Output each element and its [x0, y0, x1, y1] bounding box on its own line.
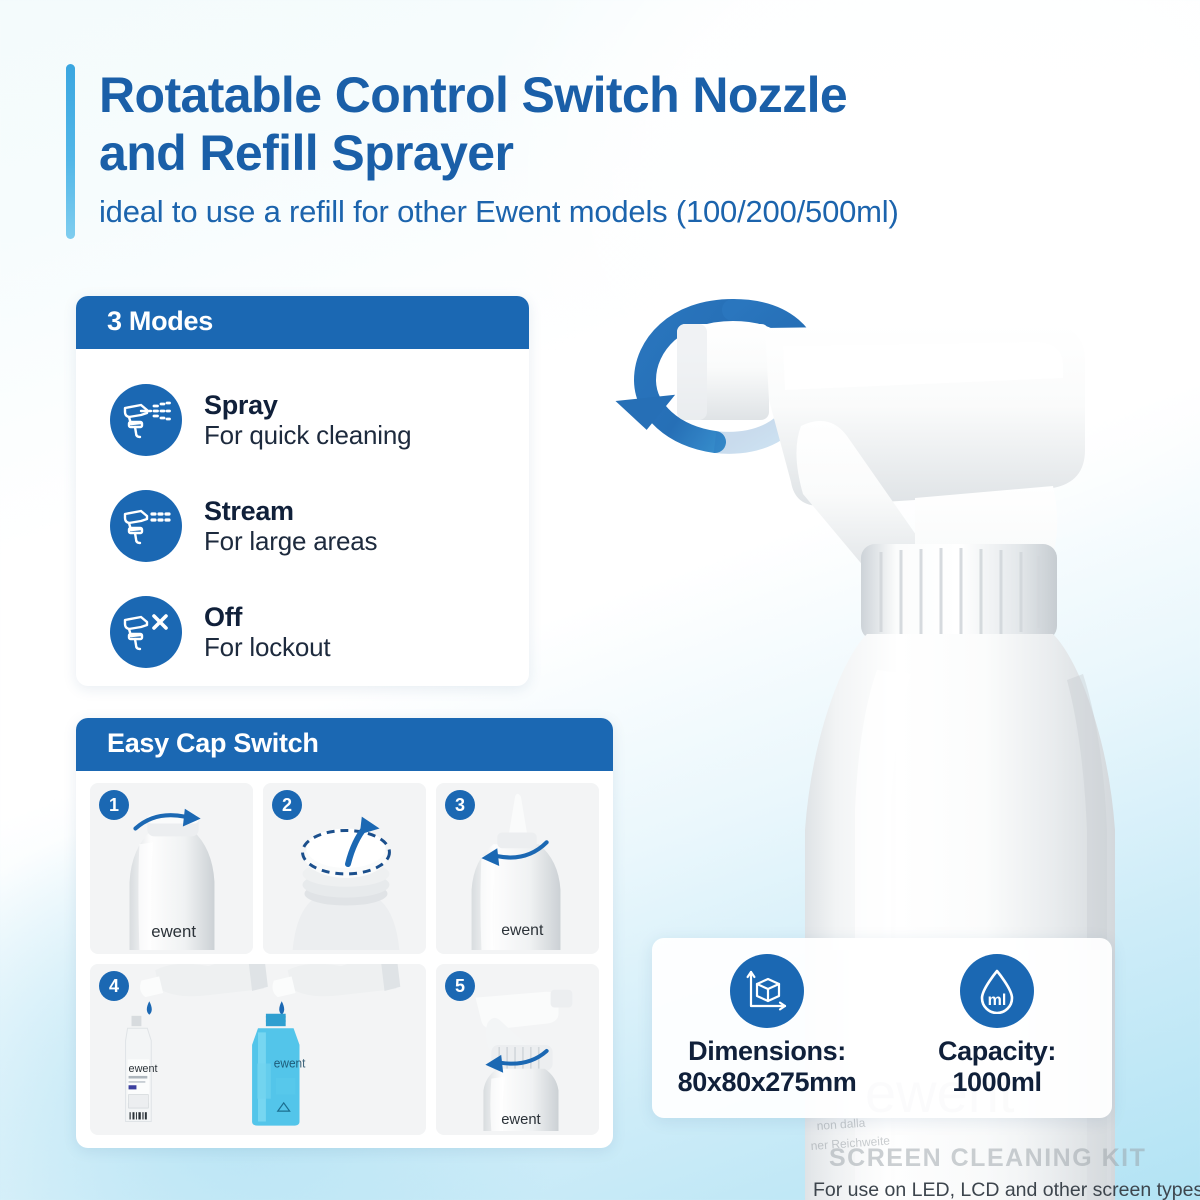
cap-step-1: 1 ewent [90, 783, 253, 954]
step-number: 4 [99, 971, 129, 1001]
cap-step-2: 2 [263, 783, 426, 954]
mode-desc: For lockout [204, 633, 330, 662]
bottle-label-description: For use on LED, LCD and other screen typ… [813, 1179, 1200, 1200]
step-number: 2 [272, 790, 302, 820]
mode-desc: For large areas [204, 527, 377, 556]
svg-text:ewent: ewent [274, 1056, 306, 1070]
specs-card: Dimensions: 80x80x275mm ml Capacity: 100… [652, 938, 1112, 1118]
svg-text:ewent: ewent [501, 922, 544, 939]
svg-text:ewent: ewent [151, 922, 196, 941]
svg-text:SCREEN CLEANING KIT: SCREEN CLEANING KIT [829, 1144, 1146, 1172]
header-text-block: Rotatable Control Switch Nozzle and Refi… [99, 64, 899, 239]
spray-nozzle-icon [110, 384, 182, 456]
mode-label-stream: Stream For large areas [204, 496, 377, 555]
cap-switch-card-header: Easy Cap Switch [76, 718, 613, 771]
off-nozzle-icon [110, 596, 182, 668]
refill-pour-icon: ewent [90, 964, 426, 1135]
mode-label-off: Off For lockout [204, 602, 330, 661]
svg-text:ner Reichweite: ner Reichweite [810, 1133, 890, 1153]
capacity-droplet-ml-icon: ml [960, 954, 1034, 1028]
cap-step-3: 3 ewent [436, 783, 599, 954]
rotatable-nozzle-tip [677, 324, 769, 420]
spec-value: 80x80x275mm [678, 1067, 857, 1098]
header-accent-bar [66, 64, 75, 239]
svg-text:ewent: ewent [501, 1112, 541, 1128]
svg-text:non dalla: non dalla [816, 1116, 866, 1133]
modes-card: 3 Modes Spray For qu [76, 296, 529, 686]
mode-row-spray: Spray For quick cleaning [76, 367, 529, 473]
spec-capacity: ml Capacity: 1000ml [882, 954, 1112, 1118]
cap-step-4: 4 ewent [90, 964, 426, 1135]
svg-text:ml: ml [988, 992, 1007, 1009]
mode-label-spray: Spray For quick cleaning [204, 390, 411, 449]
rotation-arrows-icon [615, 310, 842, 443]
svg-text:ewent: ewent [129, 1063, 159, 1075]
step-number: 3 [445, 790, 475, 820]
modes-list: Spray For quick cleaning Stream [76, 349, 529, 685]
cap-switch-card: Easy Cap Switch 1 [76, 718, 613, 1148]
spec-value: 1000ml [938, 1067, 1056, 1098]
dimensions-cube-icon [730, 954, 804, 1028]
svg-text:For use on LED, LCD and other: For use on LED, LCD and other screen typ… [813, 1179, 1200, 1200]
sprayer-head [765, 324, 1085, 506]
spec-dimensions-text: Dimensions: 80x80x275mm [678, 1036, 857, 1098]
mode-name: Spray [204, 390, 411, 420]
sprayer-trigger [796, 421, 927, 582]
spec-label: Dimensions: [688, 1036, 846, 1066]
mode-name: Off [204, 602, 330, 632]
page-subtitle: ideal to use a refill for other Ewent mo… [99, 194, 899, 230]
cap-switch-steps-grid: 1 ewent [76, 771, 613, 1148]
stream-nozzle-icon [110, 490, 182, 562]
mode-row-stream: Stream For large areas [76, 473, 529, 579]
step-number: 5 [445, 971, 475, 1001]
spec-dimensions: Dimensions: 80x80x275mm [652, 954, 882, 1118]
bottle-side-text: non dalla ner Reichweite [810, 1116, 890, 1153]
page-title: Rotatable Control Switch Nozzle and Refi… [99, 66, 899, 182]
spec-label: Capacity: [938, 1036, 1056, 1066]
page-header: Rotatable Control Switch Nozzle and Refi… [66, 64, 1156, 239]
mode-row-off: Off For lockout [76, 579, 529, 685]
sprayer-collar [861, 544, 1057, 640]
step-number: 1 [99, 790, 129, 820]
modes-card-header: 3 Modes [76, 296, 529, 349]
mode-name: Stream [204, 496, 377, 526]
spec-capacity-text: Capacity: 1000ml [938, 1036, 1056, 1098]
mode-desc: For quick cleaning [204, 421, 411, 450]
cap-step-5: 5 [436, 964, 599, 1135]
